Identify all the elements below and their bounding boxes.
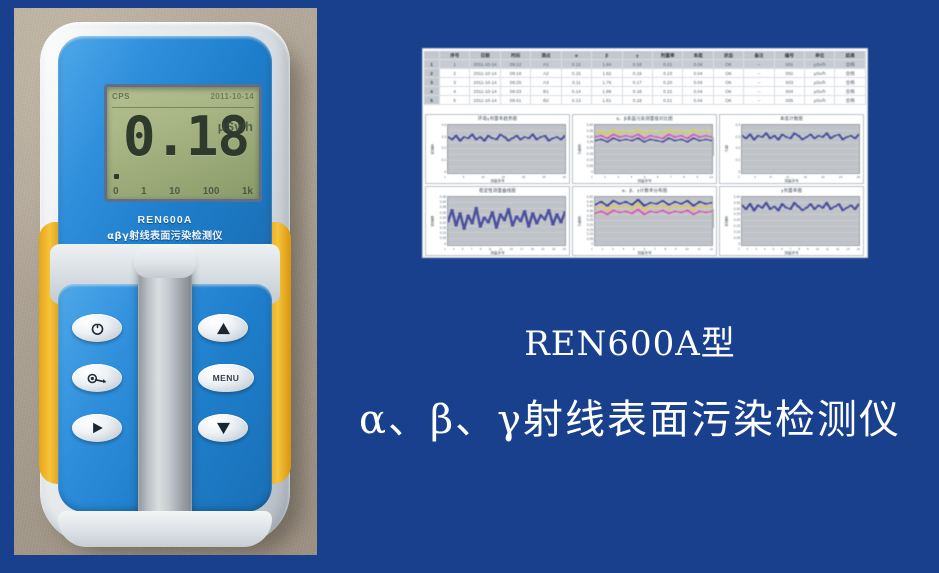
- backlight-key[interactable]: [72, 364, 122, 392]
- chart-y-tick: 0.2: [435, 147, 446, 150]
- chart-y-tick: 0.25: [435, 217, 446, 220]
- chart-y-tick: 0.30: [582, 136, 593, 139]
- magnifier-icon: [87, 372, 107, 385]
- table-cell: OK: [714, 87, 744, 95]
- chart-y-ticks: 0.40.30.20.10: [435, 124, 447, 174]
- table-cell: OK: [714, 69, 744, 77]
- device-faceplate-top: CPS 2011-10-14 0.18 μSv/h 0 1 10 100 1k: [58, 36, 272, 258]
- table-header-cell: 日期: [470, 51, 500, 59]
- device-handle: [138, 250, 192, 538]
- table-cell: 4: [440, 87, 470, 95]
- lcd-unit-label: μSv/h: [218, 119, 253, 134]
- chart-y-axis-label: 剂量率: [429, 144, 434, 155]
- lcd-tick-3: 100: [203, 186, 220, 197]
- table-cell: 002: [775, 69, 805, 77]
- table-cell: OK: [714, 60, 744, 68]
- table-cell: --: [744, 60, 774, 68]
- chart-y-tick: 0.35: [435, 206, 446, 209]
- chart-title: 环境γ剂量率趋势图: [428, 117, 567, 123]
- lcd-reading-value: 0.18: [123, 109, 249, 165]
- table-corner: [424, 51, 440, 59]
- table-cell: 1.92: [592, 69, 622, 77]
- chart-y-ticks: 0.500.450.400.350.300.250.200.150.100.05…: [582, 196, 594, 246]
- chart-y-tick: 0: [582, 171, 593, 174]
- chart-x-axis-label: 测量序号: [426, 179, 569, 184]
- chart-y-tick: 0.3: [435, 136, 446, 139]
- triangle-up-icon: [216, 322, 231, 335]
- chart-x-axis-label: 测量序号: [573, 251, 716, 256]
- table-cell: 2: [440, 69, 470, 77]
- table-header-cell: 单位: [805, 51, 835, 59]
- table-cell: 1.84: [592, 60, 622, 68]
- down-key[interactable]: [198, 414, 248, 442]
- lcd-mode-symbol: CPS: [112, 92, 130, 101]
- nameplate-model-text: REN600A: [58, 214, 272, 226]
- nameplate-chinese-text: αβγ射线表面污染检测仪: [58, 227, 272, 242]
- chart-card: α、β、γ计数率分布图α计数率β计数率γ计数率计数率0.500.450.400.…: [572, 186, 717, 256]
- chart-y-tick: 0.40: [435, 201, 446, 204]
- table-row[interactable]: 332011-10-1409:25A30.111.760.170.200.04O…: [424, 78, 866, 87]
- table-cell: 合格: [835, 69, 865, 77]
- table-cell: 2011-10-14: [470, 60, 500, 68]
- chart-y-tick: 0.05: [729, 237, 740, 240]
- title-block: REN600A型 α、β、γ射线表面污染检测仪: [330, 320, 930, 446]
- data-table: 序号日期时间测点αβγ剂量率本底状态备注编号单位结果 112011-10-140…: [423, 49, 867, 111]
- chart-y-ticks: 0.400.350.300.250.200.150.100.050: [729, 196, 741, 246]
- menu-key[interactable]: MENU: [198, 364, 254, 392]
- table-header-cell: 编号: [775, 51, 805, 59]
- chart-y-tick: 0: [435, 243, 446, 246]
- chart-y-tick: 0.35: [582, 210, 593, 213]
- table-header-cell: 状态: [714, 51, 744, 59]
- table-row[interactable]: 222011-10-1409:18A20.151.920.190.230.04O…: [424, 69, 866, 78]
- table-cell: 0.18: [623, 96, 653, 104]
- table-cell: 0.18: [623, 60, 653, 68]
- table-cell: 3: [440, 78, 470, 86]
- table-cell: 0.18: [623, 87, 653, 95]
- table-row[interactable]: 442011-10-1409:33B10.141.880.180.220.04O…: [424, 87, 866, 96]
- chart-y-tick: 0.4: [729, 124, 740, 127]
- chart-y-tick: 0.05: [435, 237, 446, 240]
- table-cell: 0.17: [623, 78, 653, 86]
- chart-y-ticks: 0.40.30.20.10: [729, 124, 741, 174]
- table-body: 112011-10-1409:12A10.121.840.180.210.04O…: [424, 60, 866, 105]
- analysis-software-screenshot: 序号日期时间测点αβγ剂量率本底状态备注编号单位结果 112011-10-140…: [422, 48, 868, 258]
- table-cell: 0.21: [653, 96, 683, 104]
- chart-plot-area: [594, 124, 713, 174]
- chart-y-axis-label: 计数: [723, 145, 728, 152]
- chart-card: α、β表面污染测量值对比图α计数β计数γ计数计数率0.400.350.300.2…: [572, 114, 717, 184]
- chart-y-tick: 0.20: [582, 224, 593, 227]
- chart-y-tick: 0.15: [582, 153, 593, 156]
- lcd-scale-row: 0 1 10 100 1k: [113, 186, 253, 197]
- chart-card: 稳定性测量曲线图测量值0.450.400.350.300.250.200.150…: [425, 186, 570, 256]
- table-row-number: 2: [424, 69, 440, 77]
- table-cell: A2: [531, 69, 561, 77]
- table-row-number: 1: [424, 60, 440, 68]
- chart-x-axis-label: 测量序号: [426, 251, 569, 256]
- table-cell: 09:18: [501, 69, 531, 77]
- chart-grid: 环境γ剂量率趋势图剂量率0.40.30.20.10151015202530测量序…: [423, 111, 867, 258]
- table-cell: 0.21: [653, 60, 683, 68]
- chart-y-tick: 0.05: [582, 165, 593, 168]
- lcd-tick-1: 1: [141, 186, 147, 197]
- table-cell: μSv/h: [805, 60, 835, 68]
- chart-plot-area: [447, 196, 566, 246]
- table-cell: 合格: [835, 78, 865, 86]
- table-cell: --: [744, 69, 774, 77]
- table-cell: 1.76: [592, 78, 622, 86]
- table-cell: 2011-10-14: [470, 87, 500, 95]
- radiation-meter-device: CPS 2011-10-14 0.18 μSv/h 0 1 10 100 1k: [40, 22, 290, 547]
- lcd-bargraph: [114, 174, 252, 179]
- table-header-cell: γ: [623, 51, 653, 59]
- table-cell: 0.12: [562, 60, 592, 68]
- chart-y-tick: 0.15: [435, 227, 446, 230]
- play-icon: [90, 421, 105, 435]
- table-row[interactable]: 552011-10-1409:41B20.131.810.180.210.04O…: [424, 96, 866, 105]
- table-cell: μSv/h: [805, 96, 835, 104]
- chart-x-axis-label: 测量序号: [573, 179, 716, 184]
- table-cell: 1: [440, 60, 470, 68]
- table-row-number: 5: [424, 96, 440, 104]
- chart-plot-area: [741, 196, 860, 246]
- table-cell: 1.81: [592, 96, 622, 104]
- chart-y-tick: 0.15: [729, 225, 740, 228]
- table-cell: 09:41: [501, 96, 531, 104]
- chart-y-tick: 0.4: [435, 124, 446, 127]
- chart-y-tick: 0.25: [582, 141, 593, 144]
- table-header-cell: β: [592, 51, 622, 59]
- table-cell: 0.04: [683, 60, 713, 68]
- chart-y-tick: 0: [729, 171, 740, 174]
- table-cell: 09:25: [501, 78, 531, 86]
- keypad-right-column: MENU: [198, 314, 262, 464]
- chart-y-tick: 0.25: [729, 213, 740, 216]
- chart-y-tick: 0.20: [582, 147, 593, 150]
- chart-y-tick: 0: [582, 243, 593, 246]
- lcd-datetime: 2011-10-14: [211, 92, 254, 101]
- table-cell: --: [744, 96, 774, 104]
- table-cell: 合格: [835, 60, 865, 68]
- chart-y-tick: 0.3: [729, 136, 740, 139]
- chart-title: α、β、γ计数率分布图: [575, 189, 714, 195]
- table-cell: 0.14: [562, 87, 592, 95]
- table-row-number: 4: [424, 87, 440, 95]
- chart-y-tick: 0.40: [582, 124, 593, 127]
- chart-y-tick: 0.40: [729, 196, 740, 199]
- chart-y-tick: 0.45: [435, 196, 446, 199]
- chart-y-tick: 0: [435, 171, 446, 174]
- table-cell: 09:12: [501, 60, 531, 68]
- table-header-cell: 备注: [744, 51, 774, 59]
- chart-card: 本底计数图计数0.40.30.20.101481216202428测量序号: [719, 114, 864, 184]
- table-cell: 0.04: [683, 78, 713, 86]
- table-cell: B2: [531, 96, 561, 104]
- chart-y-tick: 0.05: [582, 238, 593, 241]
- chart-title: 稳定性测量曲线图: [428, 189, 567, 195]
- table-cell: 0.13: [562, 96, 592, 104]
- triangle-down-icon: [216, 422, 231, 435]
- chart-y-tick: 0.35: [729, 202, 740, 205]
- table-cell: 合格: [835, 87, 865, 95]
- chart-card: γ剂量率图剂量率0.400.350.300.250.200.150.100.05…: [719, 186, 864, 256]
- table-cell: 0.23: [653, 69, 683, 77]
- table-header-cell: 测点: [531, 51, 561, 59]
- table-header-cell: 本底: [683, 51, 713, 59]
- table-cell: μSv/h: [805, 69, 835, 77]
- chart-title: γ剂量率图: [722, 189, 861, 195]
- chart-y-axis-label: 剂量率: [723, 216, 728, 227]
- table-cell: 001: [775, 60, 805, 68]
- table-cell: 0.04: [683, 87, 713, 95]
- table-cell: 2011-10-14: [470, 69, 500, 77]
- table-cell: 0.20: [653, 78, 683, 86]
- chart-plot-area: [594, 196, 713, 246]
- play-key[interactable]: [72, 414, 122, 442]
- table-cell: 003: [775, 78, 805, 86]
- menu-key-label: MENU: [213, 373, 240, 383]
- table-header-cell: 剂量率: [653, 51, 683, 59]
- slide-canvas: CPS 2011-10-14 0.18 μSv/h 0 1 10 100 1k: [0, 0, 939, 573]
- lcd-tick-0: 0: [113, 186, 119, 197]
- table-cell: 004: [775, 87, 805, 95]
- table-cell: OK: [714, 78, 744, 86]
- lcd-bargraph-dot: [114, 174, 119, 179]
- power-key[interactable]: [72, 314, 122, 342]
- chart-y-tick: 0.10: [582, 159, 593, 162]
- table-header-cell: 时间: [501, 51, 531, 59]
- chart-y-tick: 0.30: [729, 208, 740, 211]
- table-header-row: 序号日期时间测点αβγ剂量率本底状态备注编号单位结果: [424, 51, 866, 60]
- chart-x-axis-label: 测量序号: [720, 251, 863, 256]
- chart-y-axis-label: 测量值: [429, 216, 434, 227]
- table-cell: μSv/h: [805, 87, 835, 95]
- chart-x-axis-label: 测量序号: [720, 179, 863, 184]
- chart-y-tick: 0.1: [435, 159, 446, 162]
- table-cell: 5: [440, 96, 470, 104]
- chart-y-tick: 0.10: [435, 232, 446, 235]
- chart-card: 环境γ剂量率趋势图剂量率0.40.30.20.10151015202530测量序…: [425, 114, 570, 184]
- device-photo: CPS 2011-10-14 0.18 μSv/h 0 1 10 100 1k: [14, 8, 317, 555]
- table-cell: OK: [714, 96, 744, 104]
- table-cell: 09:33: [501, 87, 531, 95]
- lcd-tick-4: 1k: [242, 186, 253, 197]
- chart-y-tick: 0: [729, 243, 740, 246]
- table-cell: 005: [775, 96, 805, 104]
- table-cell: 2011-10-14: [470, 96, 500, 104]
- table-cell: 0.19: [623, 69, 653, 77]
- chart-y-tick: 0.35: [582, 130, 593, 133]
- chart-y-tick: 0.30: [435, 212, 446, 215]
- chart-title: α、β表面污染测量值对比图: [575, 117, 714, 123]
- power-icon: [90, 321, 105, 336]
- device-nameplate: REN600A αβγ射线表面污染检测仪: [58, 214, 272, 242]
- chart-y-tick: 0.50: [582, 196, 593, 199]
- chart-y-axis-label: 计数率: [576, 144, 581, 155]
- table-cell: 0.22: [653, 87, 683, 95]
- table-cell: 1.88: [592, 87, 622, 95]
- keypad-left-column: [72, 314, 132, 464]
- up-key[interactable]: [198, 314, 248, 342]
- table-row-number: 3: [424, 78, 440, 86]
- product-description-title: α、β、γ射线表面污染检测仪: [330, 394, 930, 446]
- table-cell: --: [744, 87, 774, 95]
- table-cell: --: [744, 78, 774, 86]
- chart-y-tick: 0.2: [729, 147, 740, 150]
- chart-y-tick: 0.20: [435, 222, 446, 225]
- chart-y-ticks: 0.450.400.350.300.250.200.150.100.050: [435, 196, 447, 246]
- table-cell: 0.11: [562, 78, 592, 86]
- device-handle-mount: [134, 244, 196, 278]
- table-header-cell: α: [562, 51, 592, 59]
- chart-title: 本底计数图: [722, 117, 861, 123]
- lcd-tick-2: 10: [169, 186, 180, 197]
- lcd-screen: CPS 2011-10-14 0.18 μSv/h 0 1 10 100 1k: [104, 84, 262, 202]
- table-row[interactable]: 112011-10-1409:12A10.121.840.180.210.04O…: [424, 60, 866, 69]
- table-cell: A1: [531, 60, 561, 68]
- chart-plot-area: [741, 124, 860, 174]
- chart-plot-area: [447, 124, 566, 174]
- table-cell: 0.04: [683, 96, 713, 104]
- table-cell: A3: [531, 78, 561, 86]
- chart-y-tick: 0.20: [729, 219, 740, 222]
- table-header-cell: 序号: [440, 51, 470, 59]
- table-cell: B1: [531, 87, 561, 95]
- chart-y-tick: 0.10: [729, 231, 740, 234]
- device-base: [58, 511, 272, 547]
- table-header-cell: 结果: [835, 51, 865, 59]
- lcd-status-row: CPS 2011-10-14: [112, 90, 254, 106]
- table-cell: 合格: [835, 96, 865, 104]
- table-cell: 0.04: [683, 69, 713, 77]
- chart-y-axis-label: 计数率: [576, 216, 581, 227]
- chart-y-ticks: 0.400.350.300.250.200.150.100.050: [582, 124, 594, 174]
- chart-y-tick: 0.1: [729, 159, 740, 162]
- table-cell: μSv/h: [805, 78, 835, 86]
- table-cell: 0.15: [562, 69, 592, 77]
- product-model-title: REN600A型: [330, 320, 930, 368]
- table-cell: 2011-10-14: [470, 78, 500, 86]
